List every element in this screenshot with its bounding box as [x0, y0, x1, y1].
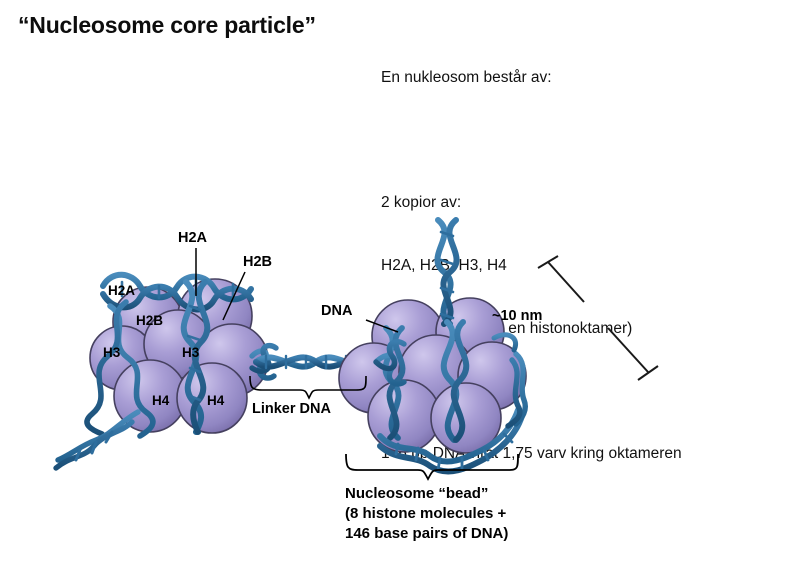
linker-dna-label: Linker DNA [252, 401, 331, 417]
caption-line-3: 146 base pairs of DNA) [345, 525, 508, 542]
label-h3-left: H3 [103, 345, 121, 360]
label-scale: ~10 nm [492, 308, 542, 324]
label-h2b-left: H2B [136, 313, 163, 328]
nucleosome-diagram: Linker DNA Nucleosome “bead” (8 histone … [0, 210, 802, 574]
scale-cap-top [538, 256, 558, 268]
label-h4-left: H4 [152, 393, 170, 408]
label-h4-mid: H4 [207, 393, 225, 408]
scale-line-upper [548, 262, 584, 302]
caption-line-1: Nucleosome “bead” [345, 485, 488, 502]
label-h2a-left: H2A [108, 283, 135, 298]
label-h3-mid: H3 [182, 345, 200, 360]
spacer [381, 130, 682, 150]
caption-line-2: (8 histone molecules + [345, 505, 507, 522]
scale-cap-bottom [638, 366, 658, 380]
label-h2b-top: H2B [243, 254, 272, 270]
histone-sphere [368, 380, 440, 452]
label-h2a-top: H2A [178, 230, 208, 246]
description-line-1: En nukleosom består av: [381, 67, 682, 88]
label-dna: DNA [321, 303, 353, 319]
scale-line-lower [608, 328, 648, 372]
slide-canvas: “Nucleosome core particle” En nukleosom … [0, 0, 802, 574]
bead-caption: Nucleosome “bead” (8 histone molecules +… [345, 485, 508, 542]
scale-bar [538, 256, 658, 380]
page-title: “Nucleosome core particle” [18, 12, 316, 39]
